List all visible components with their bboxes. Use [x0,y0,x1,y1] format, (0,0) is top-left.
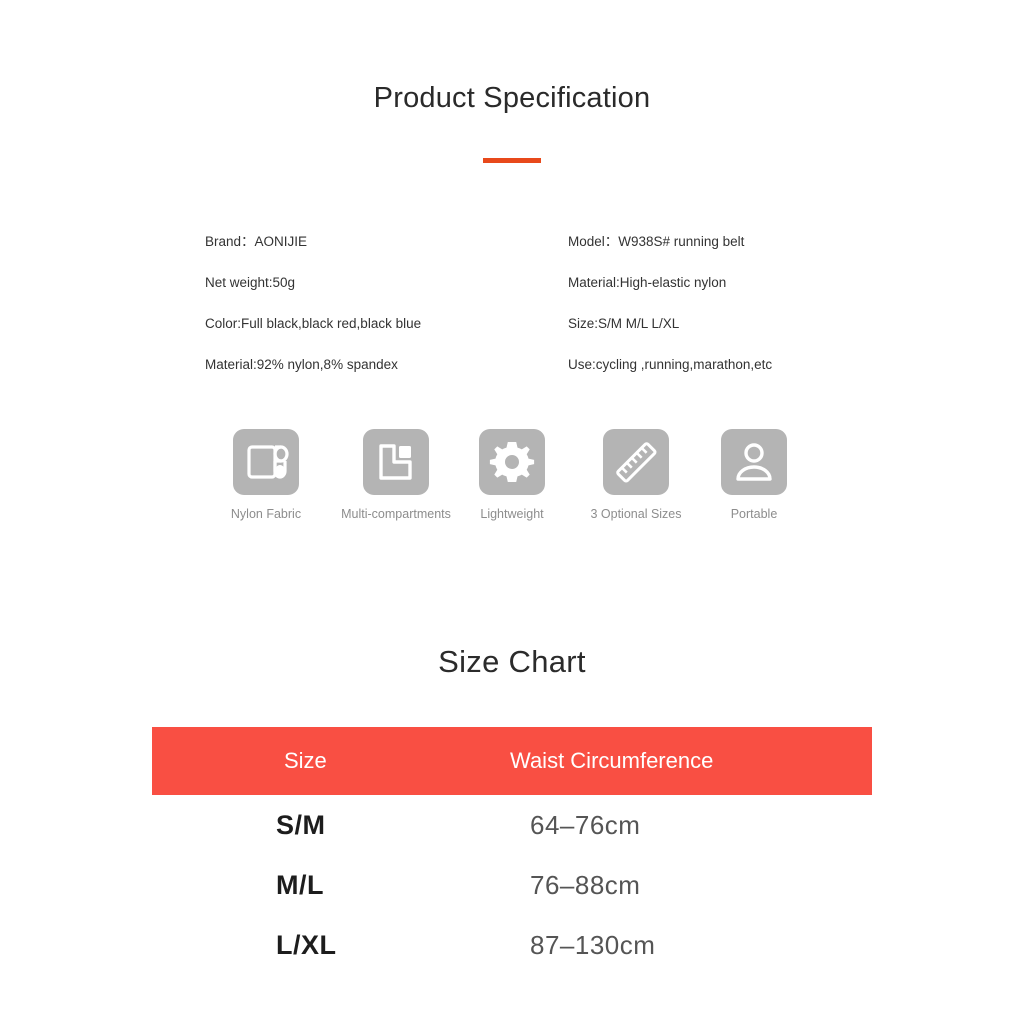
cell-size: L/XL [276,915,337,975]
spec-line-color: Color:Full black,black red,black blue [205,314,421,355]
feature-label: Lightweight [442,506,582,522]
cell-size: S/M [276,795,326,855]
spec-column-right: Model：W938S# running belt Material:High-… [568,232,772,396]
spec-line-material-composition: Material:92% nylon,8% spandex [205,355,421,396]
ruler-icon [603,429,669,495]
feature-portable: Portable [684,429,824,522]
size-chart-title: Size Chart [0,640,1024,684]
table-row: L/XL 87–130cm [152,915,872,975]
product-detail-page: Product Specification Brand：AONIJIE Net … [0,0,1024,1024]
title-accent-bar [483,158,541,163]
size-chart-table: Size Waist Circumference S/M 64–76cm M/L… [152,727,872,975]
feature-icon-row: Nylon Fabric Multi-compartments Lightwei… [0,429,1024,539]
spec-line-use: Use:cycling ,running,marathon,etc [568,355,772,396]
spec-line-net-weight: Net weight:50g [205,273,421,314]
multi-compartment-icon [363,429,429,495]
table-header-row: Size Waist Circumference [152,727,872,795]
gear-icon [479,429,545,495]
specification-grid: Brand：AONIJIE Net weight:50g Color:Full … [0,232,1024,392]
cell-waist: 64–76cm [530,795,640,855]
cell-waist: 76–88cm [530,855,640,915]
person-icon [721,429,787,495]
column-header-waist: Waist Circumference [510,727,713,795]
spec-column-left: Brand：AONIJIE Net weight:50g Color:Full … [205,232,421,396]
feature-nylon-fabric: Nylon Fabric [196,429,336,522]
fabric-roll-icon [233,429,299,495]
feature-label: Nylon Fabric [196,506,336,522]
spec-line-brand: Brand：AONIJIE [205,232,421,273]
spec-line-size: Size:S/M M/L L/XL [568,314,772,355]
cell-size: M/L [276,855,324,915]
table-row: M/L 76–88cm [152,855,872,915]
product-specification-title: Product Specification [0,78,1024,118]
table-row: S/M 64–76cm [152,795,872,855]
feature-label: Portable [684,506,824,522]
cell-waist: 87–130cm [530,915,655,975]
feature-lightweight: Lightweight [442,429,582,522]
spec-line-model: Model：W938S# running belt [568,232,772,273]
spec-line-material: Material:High-elastic nylon [568,273,772,314]
column-header-size: Size [284,727,327,795]
